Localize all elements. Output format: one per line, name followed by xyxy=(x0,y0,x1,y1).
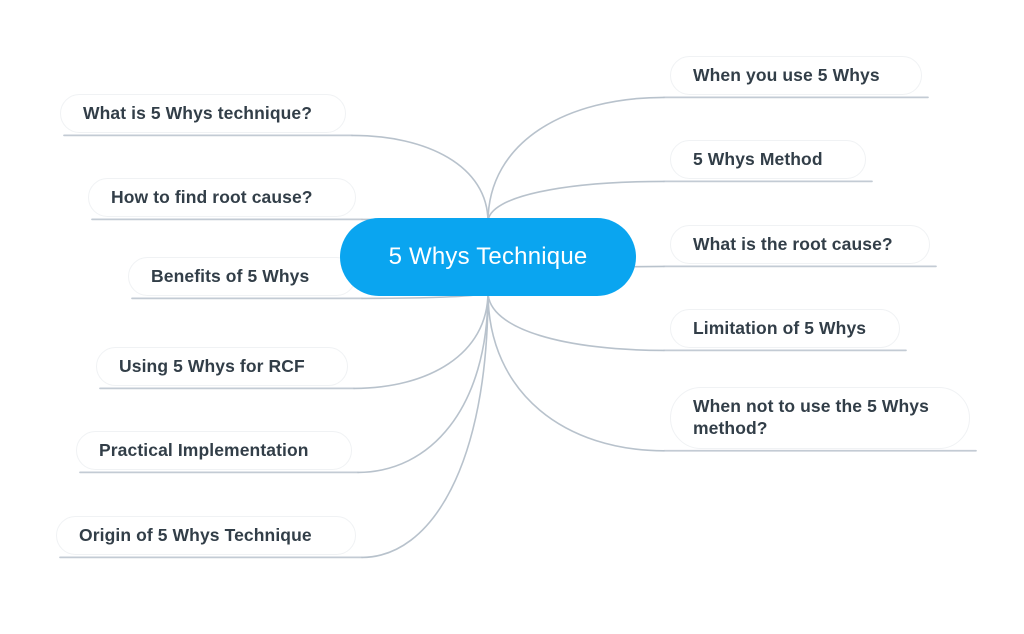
branch-label: How to find root cause? xyxy=(111,186,313,208)
mindmap-canvas: What is 5 Whys technique? How to find ro… xyxy=(0,0,1024,634)
branch-label: When you use 5 Whys xyxy=(693,64,880,86)
branch-label: What is 5 Whys technique? xyxy=(83,102,312,124)
branch-node-left-3[interactable]: Benefits of 5 Whys xyxy=(128,257,356,296)
branch-label: What is the root cause? xyxy=(693,233,893,255)
branch-label: Limitation of 5 Whys xyxy=(693,317,866,339)
central-node-label: 5 Whys Technique xyxy=(389,243,588,271)
central-node[interactable]: 5 Whys Technique xyxy=(340,218,636,296)
branch-label: Origin of 5 Whys Technique xyxy=(79,524,312,546)
branch-label: When not to use the 5 Whys method? xyxy=(693,395,929,440)
branch-node-right-5[interactable]: When not to use the 5 Whys method? xyxy=(670,387,970,449)
branch-node-right-1[interactable]: When you use 5 Whys xyxy=(670,56,922,95)
branch-label: Practical Implementation xyxy=(99,439,309,461)
branch-label: Using 5 Whys for RCF xyxy=(119,355,305,377)
branch-node-right-4[interactable]: Limitation of 5 Whys xyxy=(670,309,900,348)
branch-node-right-3[interactable]: What is the root cause? xyxy=(670,225,930,264)
branch-node-left-1[interactable]: What is 5 Whys technique? xyxy=(60,94,346,133)
branch-node-right-2[interactable]: 5 Whys Method xyxy=(670,140,866,179)
branch-label: 5 Whys Method xyxy=(693,148,823,170)
branch-node-left-2[interactable]: How to find root cause? xyxy=(88,178,356,217)
branch-node-left-5[interactable]: Practical Implementation xyxy=(76,431,352,470)
branch-node-left-4[interactable]: Using 5 Whys for RCF xyxy=(96,347,348,386)
branch-node-left-6[interactable]: Origin of 5 Whys Technique xyxy=(56,516,356,555)
branch-label: Benefits of 5 Whys xyxy=(151,265,309,287)
